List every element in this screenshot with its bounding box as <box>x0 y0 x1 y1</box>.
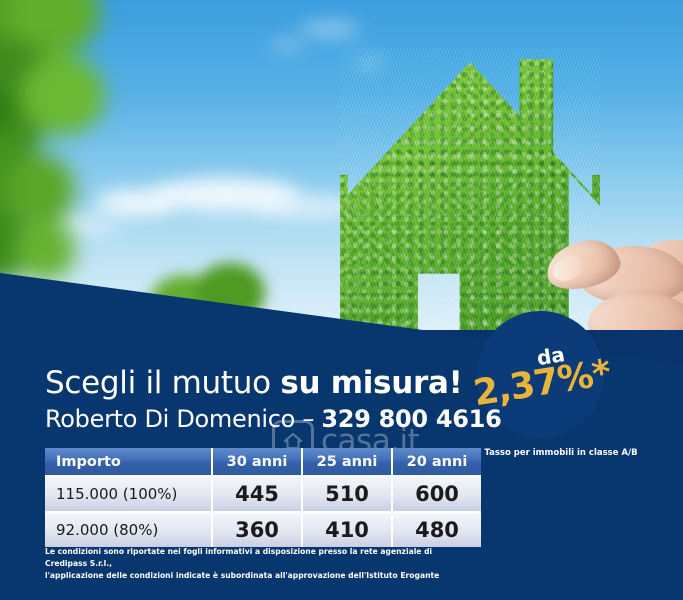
page-title: Scegli il mutuo su misura! <box>45 367 462 400</box>
headline-regular: Scegli il mutuo <box>45 365 280 401</box>
cell-rate-20: 600 <box>392 476 481 512</box>
cloud <box>300 22 360 36</box>
column-header-20-anni: 20 anni <box>392 448 481 476</box>
cell-rate-25: 510 <box>302 476 392 512</box>
agent-name: Roberto Di Domenico – <box>45 405 321 433</box>
legal-disclaimer: Le condizioni sono riportate nei fogli i… <box>45 546 445 581</box>
cell-rate-25: 410 <box>302 512 392 547</box>
disclaimer-line-1: Le condizioni sono riportate nei fogli i… <box>45 546 445 570</box>
cell-rate-30: 360 <box>212 512 302 547</box>
cell-importo: 115.000 (100%) <box>45 476 212 512</box>
mortgage-rates-table: Importo 30 anni 25 anni 20 anni 115.000 … <box>45 448 481 547</box>
agent-phone[interactable]: 329 800 4616 <box>321 405 501 433</box>
cell-importo: 92.000 (80%) <box>45 512 212 547</box>
cloud <box>270 40 304 50</box>
disclaimer-line-2: l'applicazione delle condizioni indicate… <box>45 570 445 582</box>
column-header-30-anni: 30 anni <box>212 448 302 476</box>
blurred-tree <box>0 0 110 290</box>
mortgage-promo-banner: da 2,37%* Scegli il mutuo su misura! Rob… <box>0 0 683 600</box>
rate-badge-value: 2,37%* <box>471 355 613 412</box>
rate-footnote: * Tasso per immobili in classe A/B <box>477 448 677 458</box>
column-header-25-anni: 25 anni <box>302 448 392 476</box>
headline-bold: su misura! <box>280 365 462 401</box>
hero-photo <box>0 0 683 330</box>
table-row: 115.000 (100%) 445 510 600 <box>45 476 481 512</box>
table-row: 92.000 (80%) 360 410 480 <box>45 512 481 547</box>
table-header-row: Importo 30 anni 25 anni 20 anni <box>45 448 481 476</box>
column-header-importo: Importo <box>45 448 212 476</box>
cell-rate-30: 445 <box>212 476 302 512</box>
cell-rate-20: 480 <box>392 512 481 547</box>
agent-contact: Roberto Di Domenico – 329 800 4616 <box>45 406 501 432</box>
